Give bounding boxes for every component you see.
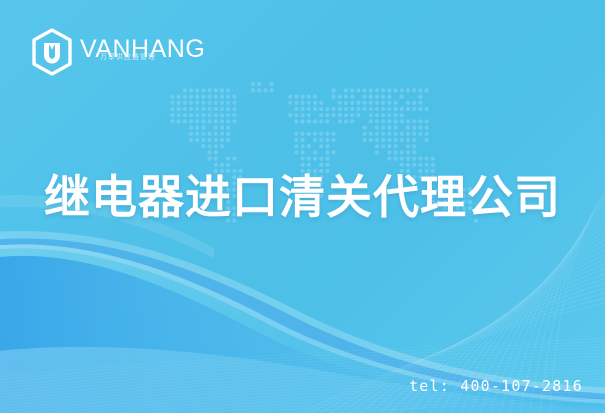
logo-subtitle: 万享供应链管理 bbox=[100, 53, 156, 62]
contact-telephone: tel: 400-107-2816 bbox=[409, 377, 583, 395]
promo-banner: VANHANG 万享供应链管理 继电器进口清关代理公司 tel: 400-107… bbox=[0, 0, 605, 413]
logo-text-block: VANHANG 万享供应链管理 bbox=[80, 35, 205, 69]
vanhang-hexagon-logo-icon bbox=[30, 28, 74, 76]
brand-logo[interactable]: VANHANG 万享供应链管理 bbox=[30, 28, 205, 76]
page-title: 继电器进口清关代理公司 bbox=[0, 168, 605, 226]
